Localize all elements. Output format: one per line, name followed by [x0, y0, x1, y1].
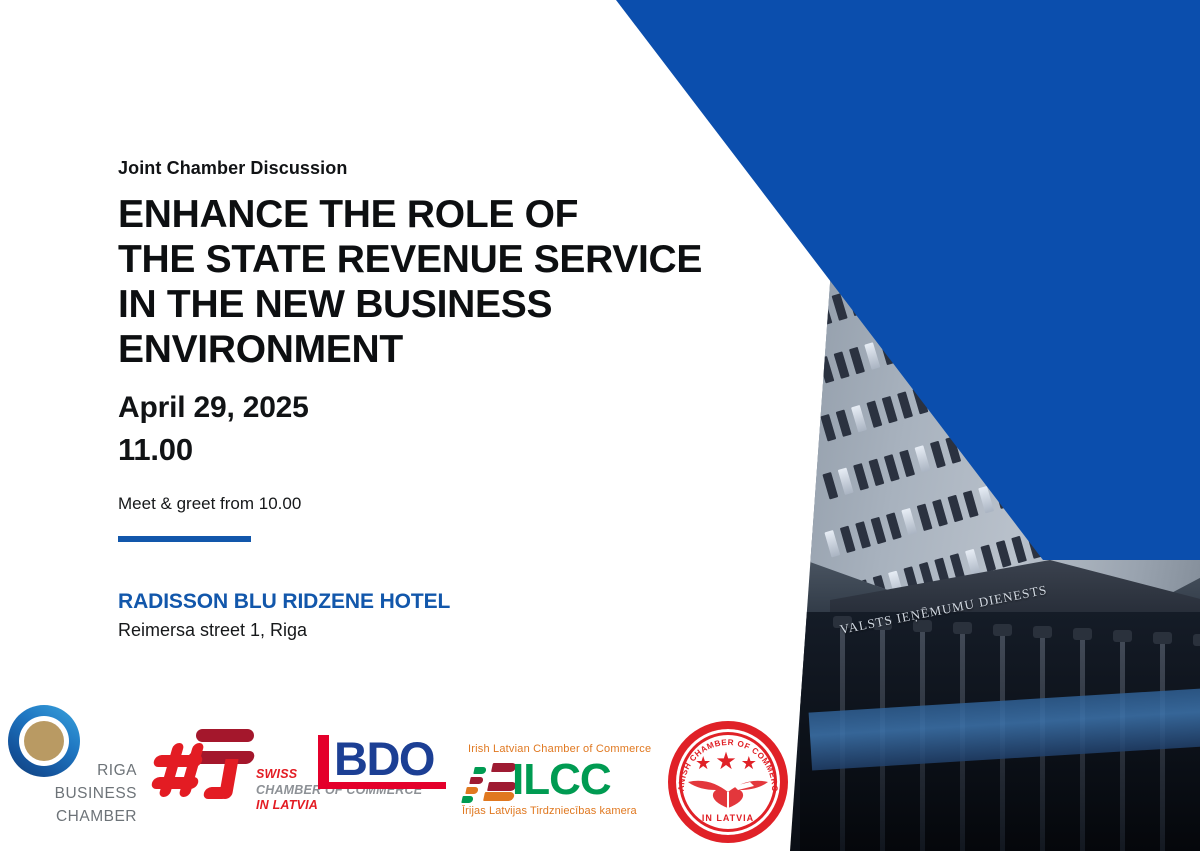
kicker-label: Joint Chamber Discussion — [118, 158, 347, 179]
danish-chamber-of-commerce-logo: DANISH CHAMBER OF COMMERCE ★★★ IN LATVIA — [668, 721, 788, 843]
accent-divider — [118, 536, 251, 542]
headline-line-4: ENVIRONMENT — [118, 327, 718, 372]
event-date: April 29, 2025 — [118, 391, 309, 425]
bdo-logo: BDO — [318, 735, 450, 795]
event-time: 11.00 — [118, 432, 193, 468]
ilcc-latvian-name: Īrijas Latvijas Tirdzniecības kamera — [462, 805, 637, 817]
headline-line-3: IN THE NEW BUSINESS — [118, 282, 718, 327]
bdo-wordmark: BDO — [334, 731, 434, 786]
bdo-red-vertical-bar — [318, 735, 329, 787]
danish-wing-emblem-icon — [684, 776, 772, 810]
riga-chamber-line-1: RIGA — [4, 759, 137, 782]
ilcc-english-name: Irish Latvian Chamber of Commerce — [468, 743, 651, 755]
ilcc-wordmark: ILCC — [512, 755, 611, 805]
danish-bottom-text: IN LATVIA — [668, 813, 788, 823]
riga-chamber-wordmark: RIGA BUSINESS CHAMBER — [4, 759, 137, 828]
riga-chamber-line-3: CHAMBER — [4, 805, 137, 828]
ilcc-logo: Irish Latvian Chamber of Commerce ILCC Ī… — [462, 743, 662, 833]
page-title: ENHANCE THE ROLE OF THE STATE REVENUE SE… — [118, 192, 718, 372]
venue-name: RADISSON BLU RIDZENE HOTEL — [118, 590, 450, 614]
headline-line-2: THE STATE REVENUE SERVICE — [118, 237, 718, 282]
swiss-line-3: IN LATVIA — [256, 798, 422, 814]
meet-and-greet-note: Meet & greet from 10.00 — [118, 494, 301, 514]
headline-line-1: ENHANCE THE ROLE OF — [118, 192, 718, 237]
riga-business-chamber-logo: RIGA BUSINESS CHAMBER — [4, 701, 149, 841]
swiss-chamber-mark-icon — [152, 729, 252, 807]
sponsor-logo-strip: RIGA BUSINESS CHAMBER SWISS CHAMBER OF C… — [0, 699, 800, 851]
danish-stars-icon: ★★★ — [668, 747, 788, 776]
riga-chamber-line-2: BUSINESS — [4, 782, 137, 805]
venue-address: Reimersa street 1, Riga — [118, 620, 307, 641]
event-poster: VALSTS IEŅĒMUMU DIENESTS Joint Chamber D… — [0, 0, 1200, 851]
